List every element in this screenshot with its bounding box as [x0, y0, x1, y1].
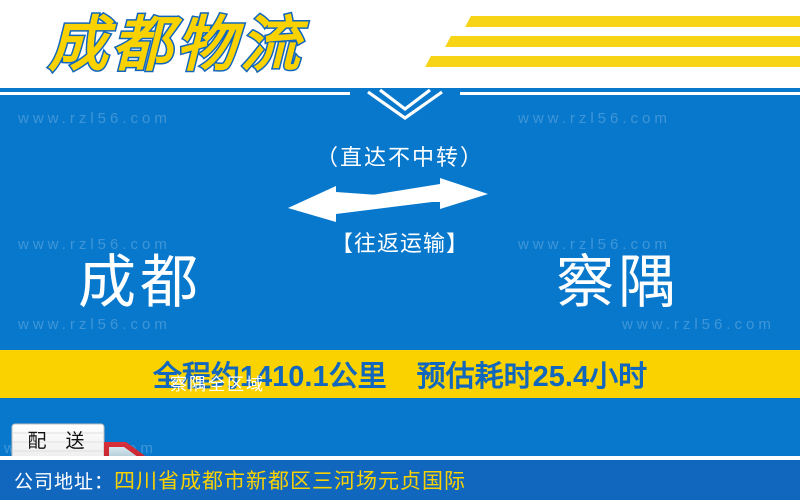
- stats-band: 全程约1410.1公里 预估耗时25.4小时: [0, 350, 800, 398]
- stripe-3: [425, 56, 800, 67]
- truck-box-char-2: 送: [65, 432, 84, 451]
- banner-header: 成都物流: [0, 0, 800, 88]
- delivery-area-label: 察隅全区域: [170, 370, 265, 395]
- watermark: www.rzl56.com: [518, 110, 671, 127]
- direct-service-note: （直达不中转）: [0, 140, 800, 172]
- logistics-banner: 成都物流 www.rzl56.com www.rzl56.com www.rzl…: [0, 0, 800, 500]
- stripe-2: [445, 36, 800, 47]
- duration-text: 预估耗时25.4小时: [417, 353, 647, 395]
- bidirectional-arrow-icon: [288, 178, 488, 224]
- origin-city: 成都: [78, 252, 202, 314]
- watermark: www.rzl56.com: [18, 110, 171, 127]
- destination-city: 察隅: [556, 252, 680, 314]
- watermark: www.rzl56.com: [622, 316, 775, 333]
- company-address-bar: 公司地址： 四川省成都市新都区三河场元贞国际: [0, 460, 800, 500]
- chevron-down-icon: [350, 88, 460, 122]
- truck-box-char-1: 配: [27, 432, 46, 451]
- stripe-1: [465, 16, 800, 27]
- watermark: www.rzl56.com: [18, 316, 171, 333]
- page-title: 成都物流: [48, 2, 304, 88]
- address-label: 公司地址：: [0, 467, 114, 494]
- main-panel: www.rzl56.com www.rzl56.com www.rzl56.co…: [0, 88, 800, 460]
- address-value: 四川省成都市新都区三河场元贞国际: [114, 465, 466, 495]
- decorative-stripes: [420, 12, 800, 76]
